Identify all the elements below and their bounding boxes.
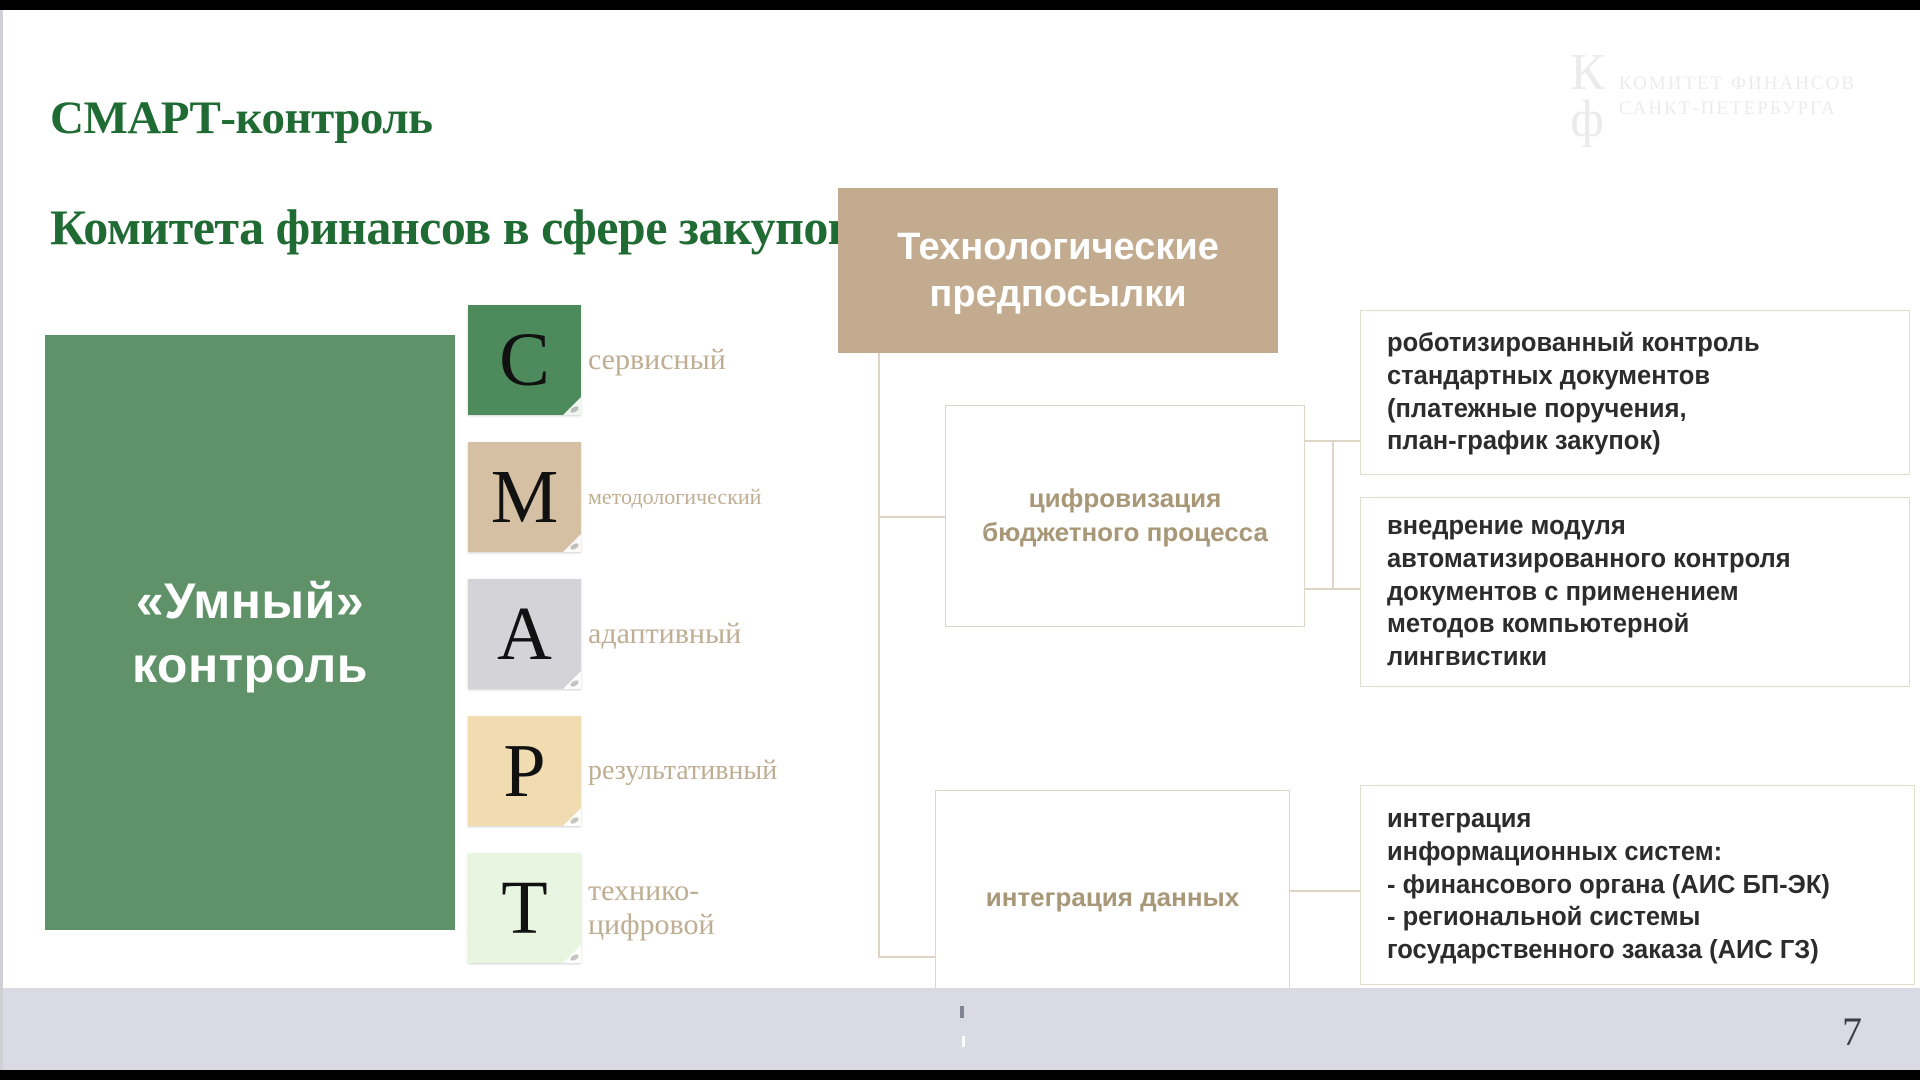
page-fold-icon: [563, 808, 581, 826]
logo-monogram-line-1: К: [1570, 50, 1605, 97]
footer-marker-secondary-icon: [962, 1036, 965, 1047]
smart-tile-s-label: сервисный: [588, 343, 726, 377]
detail-box-robotized-control: роботизированный контроль стандартных до…: [1360, 310, 1910, 475]
detail-box-automated-module-text: внедрение модуля автоматизированного кон…: [1387, 510, 1791, 674]
smart-tile-m-label: методологический: [588, 485, 761, 510]
smart-control-panel-label: «Умный» контроль: [132, 569, 368, 697]
box-data-integration-line-1: интеграция данных: [986, 881, 1239, 915]
tech-header-line-1: Технологические: [897, 224, 1219, 270]
smart-tile-m: М: [468, 442, 581, 552]
connector-line-vertical-main: [878, 353, 880, 957]
box-digitalization-line-1: цифровизация: [982, 482, 1268, 516]
page-fold-icon: [563, 945, 581, 963]
organization-logo: К ф Комитет финансов Санкт-Петербурга: [1570, 50, 1856, 144]
title-line-1: СМАРТ-контроль: [50, 93, 856, 145]
connector-line-to-digital: [878, 516, 946, 518]
slide-footer-bar: 7: [0, 988, 1920, 1070]
detail-box-automated-module: внедрение модуля автоматизированного кон…: [1360, 497, 1910, 687]
page-title: СМАРТ-контроль Комитета финансов в сфере…: [50, 38, 856, 310]
connector-line-digital-out-2: [1305, 588, 1360, 590]
connector-line-digital-stub: [1332, 440, 1334, 588]
logo-text-line-1: Комитет финансов: [1619, 72, 1856, 97]
page-fold-icon: [563, 397, 581, 415]
page-fold-icon: [563, 671, 581, 689]
tech-header-line-2: предпосылки: [897, 271, 1219, 317]
logo-monogram-line-2: ф: [1570, 97, 1605, 144]
smart-tile-s: С: [468, 305, 581, 415]
smart-tile-t-label: технико- цифровой: [588, 874, 715, 941]
page-fold-icon: [563, 534, 581, 552]
smart-tile-t-letter: Т: [501, 870, 547, 946]
detail-box-system-integration-text: интеграция информационных систем: - фина…: [1387, 803, 1830, 967]
box-digitalization: цифровизация бюджетного процесса: [945, 405, 1305, 627]
logo-monogram-icon: К ф: [1570, 50, 1605, 144]
logo-text-line-2: Санкт-Петербурга: [1619, 97, 1856, 122]
smart-tile-a-letter: А: [497, 596, 552, 672]
panel-line-1: «Умный»: [132, 569, 368, 633]
smart-tile-a-label: адаптивный: [588, 617, 741, 651]
presentation-slide: СМАРТ-контроль Комитета финансов в сфере…: [0, 10, 1920, 1070]
box-digitalization-line-2: бюджетного процесса: [982, 516, 1268, 550]
smart-tile-r-letter: Р: [503, 733, 545, 809]
smart-tile-r: Р: [468, 716, 581, 826]
box-data-integration: интеграция данных: [935, 790, 1290, 1005]
smart-tile-r-label: результативный: [588, 755, 777, 786]
detail-box-robotized-control-text: роботизированный контроль стандартных до…: [1387, 327, 1760, 459]
box-data-integration-text: интеграция данных: [986, 881, 1239, 915]
connector-line-integration-out: [1290, 890, 1360, 892]
box-digitalization-text: цифровизация бюджетного процесса: [982, 482, 1268, 550]
smart-control-panel: «Умный» контроль: [45, 335, 455, 930]
logo-text: Комитет финансов Санкт-Петербурга: [1619, 72, 1856, 121]
footer-marker-icon: [960, 1006, 964, 1018]
smart-tile-a: А: [468, 579, 581, 689]
detail-box-system-integration: интеграция информационных систем: - фина…: [1360, 785, 1915, 985]
panel-line-2: контроль: [132, 633, 368, 697]
title-line-2: Комитета финансов в сфере закупок: [50, 200, 856, 255]
smart-tile-m-letter: М: [491, 459, 559, 535]
smart-tile-s-letter: С: [499, 322, 550, 398]
tech-prerequisites-header: Технологические предпосылки: [838, 188, 1278, 353]
page-number: 7: [1842, 1008, 1862, 1055]
smart-tile-t: Т: [468, 853, 581, 963]
connector-line-to-integration: [878, 956, 936, 958]
tech-prerequisites-header-text: Технологические предпосылки: [897, 224, 1219, 317]
